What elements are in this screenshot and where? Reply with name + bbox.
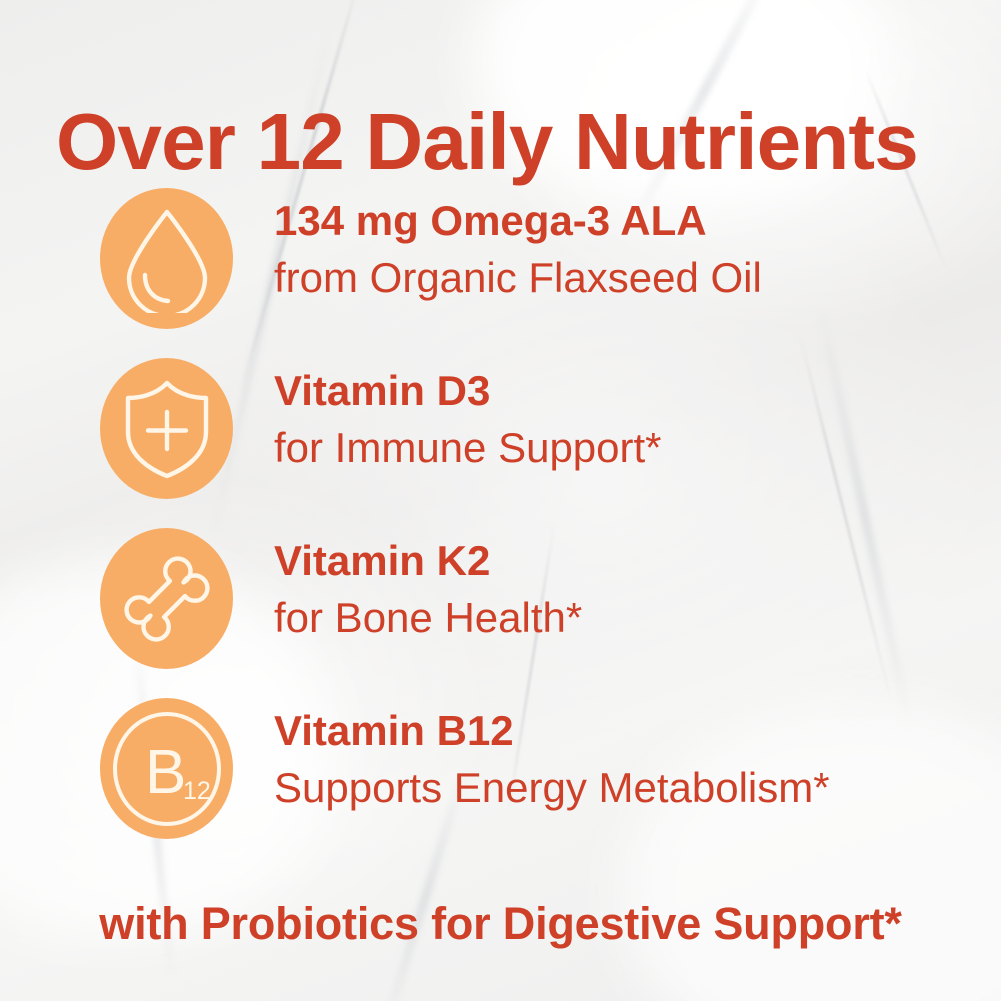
nutrient-line-2: from Organic Flaxseed Oil [274, 249, 974, 306]
nutrient-line-1: Vitamin K2 [274, 532, 974, 589]
nutrient-text-vitamin-k2: Vitamin K2 for Bone Health* [274, 532, 974, 646]
nutrient-line-1: Vitamin B12 [274, 702, 974, 759]
shield-plus-icon [117, 377, 217, 481]
nutrient-infographic: Over 12 Daily Nutrients 134 mg Omega-3 A… [0, 0, 1001, 1001]
nutrient-list: 134 mg Omega-3 ALA from Organic Flaxseed… [0, 186, 1001, 866]
b12-circle-icon-badge: B 12 [100, 698, 233, 839]
nutrient-line-2: for Bone Health* [274, 589, 974, 646]
page-title: Over 12 Daily Nutrients [56, 102, 956, 182]
nutrient-row-vitamin-b12: B 12 Vitamin B12 Supports Energy Metabol… [0, 696, 1001, 866]
nutrient-text-vitamin-b12: Vitamin B12 Supports Energy Metabolism* [274, 702, 974, 816]
nutrient-line-2: Supports Energy Metabolism* [274, 759, 974, 816]
nutrient-row-vitamin-d3: Vitamin D3 for Immune Support* [0, 356, 1001, 526]
nutrient-line-2: for Immune Support* [274, 419, 974, 476]
nutrient-row-omega3: 134 mg Omega-3 ALA from Organic Flaxseed… [0, 186, 1001, 356]
bone-icon [115, 547, 219, 651]
nutrient-row-vitamin-k2: Vitamin K2 for Bone Health* [0, 526, 1001, 696]
svg-text:B: B [145, 738, 186, 807]
droplet-icon-badge [100, 188, 233, 329]
nutrient-text-omega3: 134 mg Omega-3 ALA from Organic Flaxseed… [274, 192, 974, 306]
bone-icon-badge [100, 528, 233, 669]
droplet-icon [117, 205, 217, 313]
nutrient-line-1: 134 mg Omega-3 ALA [274, 192, 974, 249]
nutrient-text-vitamin-d3: Vitamin D3 for Immune Support* [274, 362, 974, 476]
shield-plus-icon-badge [100, 358, 233, 499]
svg-text:12: 12 [183, 777, 211, 805]
nutrient-line-1: Vitamin D3 [274, 362, 974, 419]
probiotics-footer-note: with Probiotics for Digestive Support* [0, 898, 1001, 950]
b12-circle-icon: B 12 [109, 709, 225, 829]
